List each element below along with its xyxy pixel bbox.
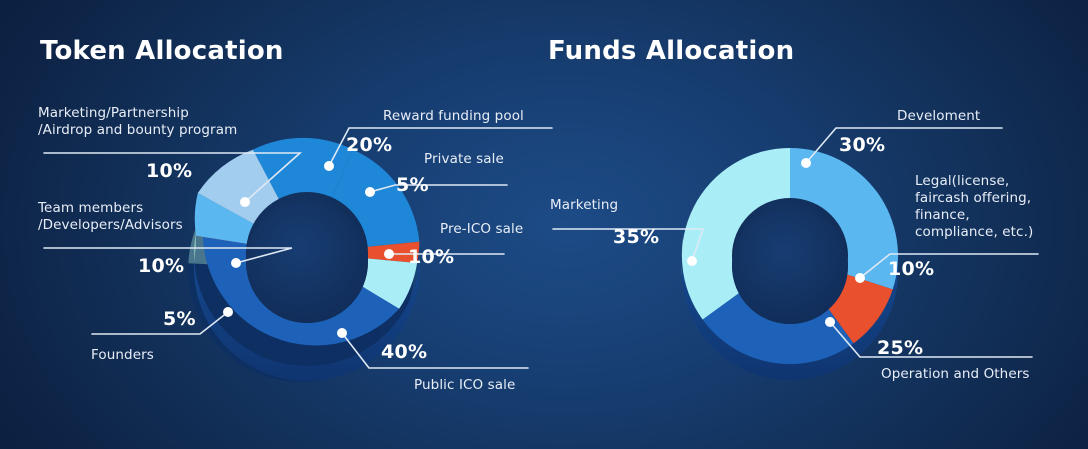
callout-team-members-label-2: /Developers/Advisors <box>38 217 183 234</box>
donut-funds-allocation <box>682 148 898 380</box>
callout-public-ico-sale: Public ICO sale <box>414 374 515 394</box>
callout-pre-ico-sale-value: 10% <box>408 246 454 268</box>
callout-pre-ico-sale-value-wrap: 10% <box>408 246 454 268</box>
callout-operation-and-others-value-wrap: 25% <box>877 337 923 359</box>
callout-team-members-label-1: Team members <box>38 200 183 217</box>
callout-anchor-dots <box>223 158 865 338</box>
callout-operation-and-others: Operation and Others <box>881 363 1030 383</box>
segment-legal <box>790 256 893 343</box>
callout-team-members: Team members /Developers/Advisors <box>38 200 183 234</box>
callout-reward-funding-pool-label: Reward funding pool <box>383 108 524 124</box>
callout-marketing-label: Marketing <box>550 197 618 213</box>
infographic-canvas: Token Allocation Funds Allocation <box>0 0 1088 449</box>
segment-reward-funding-pool-cap <box>253 138 353 253</box>
callout-develoment-value: 30% <box>839 134 885 156</box>
callout-reward-funding-pool-value-wrap: 20% <box>346 134 392 156</box>
callout-reward-funding-pool: Reward funding pool <box>383 105 524 125</box>
callout-marketing-partnership-label-1: Marketing/Partnership <box>38 105 237 122</box>
callout-private-sale-value-wrap: 5% <box>396 174 429 196</box>
callout-founders-value: 5% <box>163 308 196 330</box>
callout-marketing-value-wrap: 35% <box>613 226 659 248</box>
callout-founders: Founders <box>91 344 154 364</box>
page-title-funds-allocation: Funds Allocation <box>548 36 794 66</box>
callout-leader-lines <box>44 128 1038 368</box>
callout-team-members-value: 10% <box>138 255 184 277</box>
callout-pre-ico-sale: Pre-ICO sale <box>440 218 523 238</box>
callout-develoment-value-wrap: 30% <box>839 134 885 156</box>
segment-develoment <box>790 148 898 289</box>
callout-private-sale-value: 5% <box>396 174 429 196</box>
callout-legal-label-3: finance, <box>915 207 1033 224</box>
segment-pre-ico-sale <box>307 253 417 309</box>
segment-team-members <box>195 193 307 253</box>
callout-develoment: Develoment <box>897 105 980 125</box>
segment-founders <box>196 208 307 253</box>
callout-private-sale: Private sale <box>424 148 504 168</box>
callout-marketing-partnership-value-wrap: 10% <box>146 160 192 182</box>
donut-hole-funds <box>732 198 848 314</box>
callout-marketing: Marketing <box>550 194 618 214</box>
callout-legal-label-1: Legal(license, <box>915 173 1033 190</box>
segment-marketing-partnership <box>198 150 307 253</box>
segment-marketing <box>682 148 790 320</box>
callout-operation-and-others-label: Operation and Others <box>881 366 1030 382</box>
callout-marketing-value: 35% <box>613 226 659 248</box>
callout-legal-value-wrap: 10% <box>888 258 934 280</box>
callout-legal-label-2: faircash offering, <box>915 190 1033 207</box>
callout-public-ico-sale-value-wrap: 40% <box>381 341 427 363</box>
callout-legal-value: 10% <box>888 258 934 280</box>
callout-public-ico-sale-label: Public ICO sale <box>414 377 515 393</box>
callout-marketing-partnership: Marketing/Partnership /Airdrop and bount… <box>38 105 237 139</box>
segment-public-ico-sale <box>203 208 399 345</box>
callout-founders-value-wrap: 5% <box>163 308 196 330</box>
callout-marketing-partnership-value: 10% <box>146 160 192 182</box>
segment-private-sale <box>307 242 419 263</box>
callout-founders-label: Founders <box>91 347 154 363</box>
segment-reward-funding-pool <box>307 150 419 253</box>
callout-pre-ico-sale-label: Pre-ICO sale <box>440 221 523 237</box>
callout-legal: Legal(license, faircash offering, financ… <box>915 173 1033 241</box>
callout-marketing-partnership-label-2: /Airdrop and bounty program <box>38 122 237 139</box>
callout-operation-and-others-value: 25% <box>877 337 923 359</box>
callout-develoment-label: Develoment <box>897 108 980 124</box>
page-title-token-allocation: Token Allocation <box>40 36 284 66</box>
callout-public-ico-sale-value: 40% <box>381 341 427 363</box>
segment-operation-and-others <box>703 256 854 364</box>
callout-private-sale-label: Private sale <box>424 151 504 167</box>
callout-team-members-value-wrap: 10% <box>138 255 184 277</box>
donut-hole <box>246 192 368 314</box>
callout-legal-label-4: compliance, etc.) <box>915 224 1033 241</box>
callout-reward-funding-pool-value: 20% <box>346 134 392 156</box>
